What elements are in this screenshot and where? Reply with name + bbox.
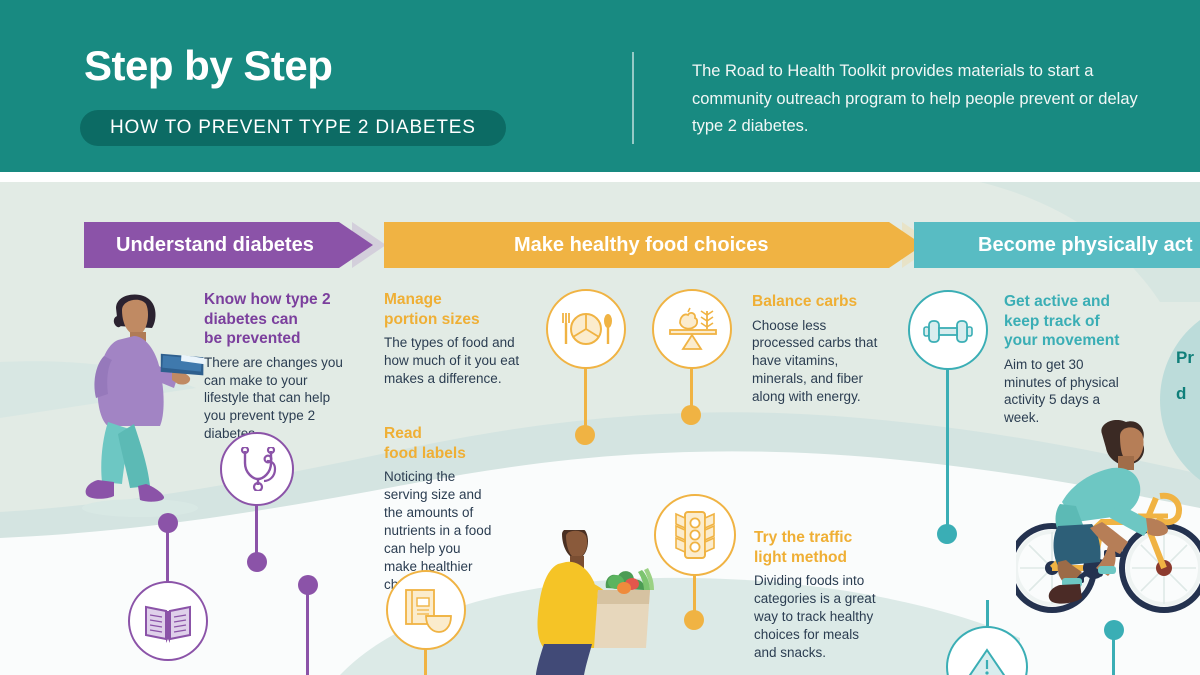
block-body: There are changes you can make to your l… — [204, 354, 352, 444]
caution-triangle-icon — [964, 646, 1010, 675]
heading-line: Get active and — [1004, 293, 1110, 310]
block-read-food-labels: Read food labels Noticing the serving si… — [384, 424, 492, 594]
heading-line: light method — [754, 549, 847, 566]
heading-line: keep track of — [1004, 313, 1100, 330]
pin-stem — [424, 648, 427, 675]
pin-stem — [584, 367, 587, 431]
block-body: Aim to get 30 minutes of physical activi… — [1004, 356, 1132, 428]
edge-callout-line-1: Pr — [1176, 340, 1194, 376]
header-divider — [632, 52, 634, 144]
block-heading: Know how type 2 diabetes can be prevente… — [204, 290, 352, 349]
heading-line: your movement — [1004, 332, 1119, 349]
banner-label: Become physically act — [978, 234, 1193, 257]
block-heading: Balance carbs — [752, 292, 878, 312]
block-heading: Try the traffic light method — [754, 528, 884, 567]
heading-line: Try the traffic — [754, 529, 852, 546]
block-body: The types of food and how much of it you… — [384, 334, 526, 388]
pin-stem — [946, 368, 949, 530]
pin-stem — [1112, 636, 1115, 675]
heading-line: Know how type 2 — [204, 291, 331, 308]
pin-stem — [166, 529, 169, 589]
illustration-person-walking-reading — [78, 286, 208, 518]
pin-stem — [986, 600, 989, 628]
pin-dot — [575, 425, 595, 445]
pin-dot — [937, 524, 957, 544]
block-know-how-type-2: Know how type 2 diabetes can be prevente… — [204, 290, 352, 443]
stethoscope-icon — [237, 447, 279, 491]
pin-stem — [306, 591, 309, 675]
heading-line: food labels — [384, 445, 466, 462]
heading-line: diabetes can — [204, 311, 298, 328]
heading-line: Balance carbs — [752, 293, 857, 310]
food-label-icon — [402, 588, 452, 634]
subtitle-pill: HOW TO PREVENT TYPE 2 DIABETES — [80, 110, 506, 146]
banner-label: Make healthy food choices — [514, 234, 769, 257]
heading-line: portion sizes — [384, 311, 480, 328]
block-manage-portion-sizes: Manage portion sizes The types of food a… — [384, 290, 526, 388]
traffic-light-icon — [672, 510, 718, 560]
section-banner-understand-diabetes[interactable]: Understand diabetes — [84, 222, 374, 268]
header-gap-strip — [0, 172, 1200, 182]
dumbbell-icon — [922, 316, 974, 346]
heading-line: be prevented — [204, 330, 300, 347]
balance-scale-icon — [666, 307, 718, 353]
block-balance-carbs: Balance carbs Choose less processed carb… — [752, 292, 878, 406]
block-traffic-light-method: Try the traffic light method Dividing fo… — [754, 528, 884, 662]
section-banner-healthy-food[interactable]: Make healthy food choices — [384, 222, 924, 268]
page-title: Step by Step — [84, 44, 332, 88]
infographic-page: Step by Step HOW TO PREVENT TYPE 2 DIABE… — [0, 0, 1200, 675]
header-banner: Step by Step HOW TO PREVENT TYPE 2 DIABE… — [0, 0, 1200, 172]
block-body: Dividing foods into categories is a grea… — [754, 572, 884, 662]
heading-line: Read — [384, 425, 422, 442]
pin-dot — [681, 405, 701, 425]
block-heading: Read food labels — [384, 424, 492, 463]
block-heading: Manage portion sizes — [384, 290, 526, 329]
header-description: The Road to Health Toolkit provides mate… — [692, 58, 1162, 141]
block-body: Choose less processed carbs that have vi… — [752, 317, 878, 407]
block-heading: Get active and keep track of your moveme… — [1004, 292, 1132, 351]
plate-portion-icon — [558, 311, 614, 347]
pin-dot — [247, 552, 267, 572]
banner-label: Understand diabetes — [116, 234, 314, 257]
heading-line: Manage — [384, 291, 442, 308]
illustration-person-cycling — [1016, 420, 1200, 620]
edge-callout-text: Pr d — [1176, 340, 1194, 411]
block-get-active: Get active and keep track of your moveme… — [1004, 292, 1132, 427]
open-book-icon — [144, 603, 192, 643]
illustration-person-carrying-groceries — [520, 530, 660, 675]
banner-arrow-tip — [339, 222, 373, 268]
edge-callout-line-2: d — [1176, 376, 1194, 412]
section-banner-physically-active[interactable]: Become physically act — [914, 222, 1200, 268]
pin-dot — [684, 610, 704, 630]
